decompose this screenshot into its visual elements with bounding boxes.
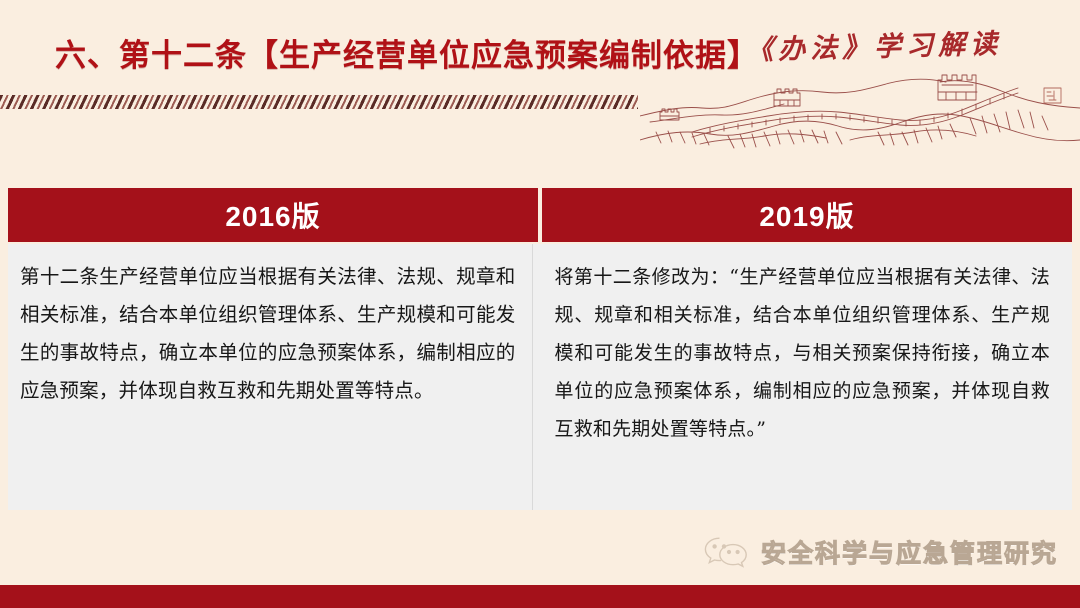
table-cell-2016-text: 第十二条生产经营单位应当根据有关法律、法规、规章和相关标准，结合本单位组织管理体… [8, 244, 532, 510]
bottom-accent-bar [0, 585, 1080, 608]
version-comparison-table: 2016版 2019版 第十二条生产经营单位应当根据有关法律、法规、规章和相关标… [8, 188, 1072, 510]
slide-header: 六、第十二条【生产经营单位应急预案编制依据】 《办法》学习解读 [0, 0, 1080, 175]
table-row: 第十二条生产经营单位应当根据有关法律、法规、规章和相关标准，结合本单位组织管理体… [8, 244, 1072, 510]
great-wall-illustration [640, 48, 1080, 168]
footer-brand-label: 安全科学与应急管理研究 [761, 534, 1058, 570]
table-header-2016: 2016版 [8, 188, 538, 242]
wechat-icon [703, 535, 749, 569]
table-header-2019: 2019版 [542, 188, 1072, 242]
striped-divider [0, 95, 638, 109]
slide-root: 六、第十二条【生产经营单位应急预案编制依据】 《办法》学习解读 [0, 0, 1080, 608]
table-cell-2019-text: 将第十二条修改为：“生产经营单位应当根据有关法律、法规、规章和相关标准，结合本单… [532, 244, 1073, 510]
table-header-row: 2016版 2019版 [8, 188, 1072, 242]
footer-watermark: 安全科学与应急管理研究 [703, 534, 1058, 570]
